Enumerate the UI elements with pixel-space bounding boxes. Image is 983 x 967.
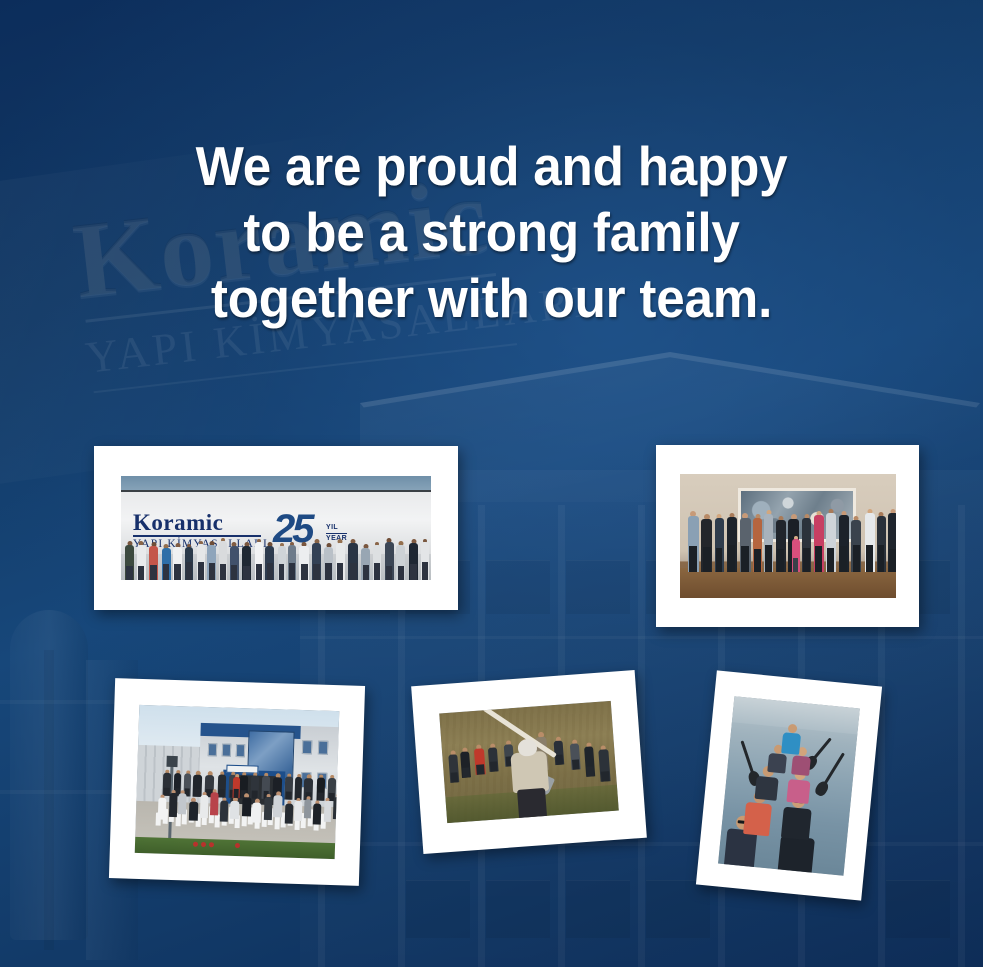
person-legs <box>803 548 809 572</box>
person-legs <box>410 564 416 580</box>
photo-indoor-group-painting <box>680 474 896 598</box>
ghost-silo <box>10 610 88 940</box>
person-torso <box>285 804 294 824</box>
person-legs <box>490 761 497 771</box>
person-figure <box>313 800 322 824</box>
person-figure <box>149 542 158 580</box>
person-legs <box>422 562 428 580</box>
headline-line-2: to be a strong family <box>34 199 948 265</box>
person-torso <box>323 801 331 822</box>
person-figure <box>753 514 762 572</box>
person-figure <box>776 516 786 572</box>
person-legs <box>374 563 380 580</box>
ghost-window <box>486 560 550 614</box>
person-figure <box>851 516 861 572</box>
person-figure <box>877 512 886 572</box>
person-torso <box>210 792 219 815</box>
person-legs <box>301 564 308 580</box>
person-torso <box>781 806 812 840</box>
person-figure <box>409 539 418 580</box>
person-legs <box>572 759 579 769</box>
person-figure <box>304 796 312 818</box>
person-legs <box>840 546 847 572</box>
person-figure <box>336 539 345 580</box>
person-figure <box>189 798 199 821</box>
person-figure <box>348 539 358 580</box>
person-figure <box>265 542 274 580</box>
person-torso <box>304 799 312 818</box>
person-figure <box>727 513 737 572</box>
person-legs <box>689 546 697 572</box>
person-figure <box>137 541 146 580</box>
person-legs <box>793 558 799 572</box>
person-figure <box>715 514 724 572</box>
person-figure <box>324 543 333 580</box>
person-figure <box>448 750 459 783</box>
person-figure <box>220 797 229 821</box>
photo-frame-tree-planting[interactable] <box>411 670 647 854</box>
ghost-cornice <box>300 636 983 639</box>
person-legs <box>150 565 156 580</box>
person-legs <box>363 565 369 580</box>
ghost-pilaster <box>958 505 965 967</box>
person-torso <box>781 732 801 755</box>
person-torso <box>200 795 209 818</box>
person-torso <box>158 798 167 820</box>
person-figure <box>197 541 205 580</box>
person-legs <box>138 566 144 580</box>
person-figure <box>373 542 381 580</box>
plastic-chair <box>274 816 279 829</box>
person-figure <box>232 774 240 798</box>
ghost-window <box>646 880 710 938</box>
person-torso <box>189 802 199 821</box>
person-legs <box>233 789 238 798</box>
person-figure <box>242 542 251 580</box>
person-figure <box>207 541 216 580</box>
person-legs <box>889 549 895 572</box>
person-torso <box>333 797 339 819</box>
person-legs <box>463 767 470 777</box>
person-legs <box>325 563 331 580</box>
person-torso <box>791 755 811 776</box>
person-figure <box>598 745 611 782</box>
person-legs <box>741 546 749 572</box>
person-figure <box>162 544 171 580</box>
person-legs <box>601 771 609 781</box>
person-figure <box>421 539 429 580</box>
person-figure <box>888 509 896 572</box>
person-figure <box>255 539 263 580</box>
ghost-window <box>406 880 470 938</box>
photo-frame-indoor-group[interactable] <box>656 445 919 627</box>
person-legs <box>286 792 292 800</box>
person-torso <box>755 775 779 800</box>
person-figure <box>242 793 252 816</box>
person-figure <box>299 542 309 580</box>
ghost-cornice <box>300 842 983 846</box>
person-figure <box>814 511 824 572</box>
photo-frame-team-rafting[interactable] <box>696 670 882 900</box>
person-torso <box>743 801 772 835</box>
person-legs <box>815 546 822 572</box>
headline-line-3: together with our team. <box>34 265 948 331</box>
person-legs <box>476 764 484 774</box>
person-legs <box>289 563 295 580</box>
person-figure <box>285 801 294 824</box>
photo4-woman-coat <box>510 751 549 794</box>
person-figure <box>158 795 167 820</box>
person-legs <box>754 549 760 572</box>
person-legs <box>126 566 132 580</box>
person-legs <box>279 564 285 580</box>
person-legs <box>350 563 357 580</box>
person-legs <box>337 563 343 580</box>
person-figure <box>173 543 182 580</box>
photo-frame-building-ceremony[interactable] <box>109 678 365 886</box>
person-torso <box>178 793 187 814</box>
person-legs <box>220 564 226 580</box>
person-legs <box>209 563 215 580</box>
person-figure <box>185 544 193 580</box>
person-legs <box>765 545 771 572</box>
person-figure <box>252 799 262 823</box>
page-title: We are proud and happy to be a strong fa… <box>34 133 948 331</box>
photo4-woman-planting <box>507 737 555 818</box>
person-legs <box>556 755 563 765</box>
person-figure <box>323 798 331 822</box>
person-figure <box>295 774 303 800</box>
person-figure <box>396 541 405 580</box>
watermark-rule-lower <box>94 343 517 393</box>
person-torso <box>313 803 322 824</box>
person-torso <box>767 752 787 773</box>
person-legs <box>386 566 392 580</box>
slide-canvas: Koramic YAPI KİMYASALLARI We are proud a… <box>0 0 983 967</box>
person-figure <box>781 723 802 755</box>
person-legs <box>174 564 180 580</box>
person-figure <box>288 542 296 580</box>
person-figure <box>312 539 321 580</box>
person-figure <box>230 797 240 819</box>
person-legs <box>219 789 225 797</box>
person-figure <box>278 543 286 580</box>
person-figure <box>826 509 836 572</box>
person-figure <box>792 536 800 572</box>
photo5-team-members <box>718 696 860 875</box>
person-legs <box>451 772 458 782</box>
person-figure <box>474 744 486 775</box>
ghost-pipe <box>44 650 54 950</box>
person-figure <box>294 798 303 821</box>
person-legs <box>866 545 873 572</box>
person-figure <box>802 514 811 572</box>
photo-building-opening-ceremony <box>135 705 340 859</box>
person-legs <box>398 566 404 580</box>
person-legs <box>853 545 860 572</box>
person-legs <box>878 545 884 572</box>
person-torso <box>294 801 303 821</box>
person-legs <box>827 548 834 572</box>
person-figure <box>178 790 187 814</box>
person-torso <box>786 778 810 803</box>
photo-frame-team-anniversary[interactable]: Koramic YAPI KİMYASALLARI 25 YIL YEAR <box>94 446 458 610</box>
person-figure <box>273 791 283 817</box>
person-figure <box>460 747 471 778</box>
person-figure <box>688 511 699 572</box>
person-figure <box>839 511 849 572</box>
person-legs <box>728 545 735 572</box>
person-figure <box>333 793 339 819</box>
person-figure <box>218 771 227 797</box>
person-legs <box>231 565 237 580</box>
person-legs <box>256 564 262 580</box>
person-legs <box>267 563 273 580</box>
person-torso <box>777 835 815 875</box>
person-figure <box>285 774 294 800</box>
person-legs <box>313 564 319 580</box>
photo-team-anniversary-banner: Koramic YAPI KİMYASALLARI 25 YIL YEAR <box>121 476 431 580</box>
person-figure <box>219 538 227 580</box>
person-figure <box>385 538 394 580</box>
person-torso <box>273 795 283 817</box>
person-legs <box>252 790 258 798</box>
ghost-window <box>566 880 630 938</box>
photo3-seated-audience <box>135 705 340 859</box>
person-torso <box>230 801 240 819</box>
photo-tree-planting-event <box>439 701 619 823</box>
person-figure <box>740 513 751 572</box>
person-figure <box>701 514 712 572</box>
ghost-window <box>566 560 630 614</box>
person-head <box>788 723 798 733</box>
person-legs <box>243 566 249 580</box>
person-legs <box>186 562 192 580</box>
person-figure <box>488 743 499 772</box>
ghost-window <box>486 880 550 938</box>
person-figure <box>210 789 219 815</box>
ghost-window <box>886 880 950 938</box>
photo1-people-group <box>121 476 431 580</box>
person-torso <box>264 797 273 820</box>
person-figure <box>865 509 875 572</box>
person-figure <box>169 790 178 817</box>
person-figure <box>251 772 260 798</box>
person-torso <box>252 803 262 823</box>
person-figure <box>230 542 239 580</box>
person-figure <box>200 792 209 818</box>
photo4-woman-skirt <box>517 788 547 820</box>
person-legs <box>318 793 324 801</box>
person-legs <box>198 562 204 580</box>
person-figure <box>553 736 564 765</box>
person-legs <box>716 548 722 572</box>
photo-team-rafting-outing <box>718 696 860 875</box>
person-legs <box>703 547 711 572</box>
person-figure <box>569 739 580 770</box>
person-legs <box>163 564 169 580</box>
person-figure <box>125 541 134 580</box>
person-figure <box>264 794 273 820</box>
person-torso <box>242 797 252 816</box>
person-figure <box>584 742 595 777</box>
person-torso <box>169 793 178 817</box>
person-figure <box>764 510 773 572</box>
headline-line-1: We are proud and happy <box>34 133 948 199</box>
person-legs <box>777 549 784 572</box>
photo2-people-group <box>680 474 896 598</box>
person-legs <box>587 766 594 776</box>
person-figure <box>361 544 370 580</box>
person-torso <box>220 800 229 821</box>
